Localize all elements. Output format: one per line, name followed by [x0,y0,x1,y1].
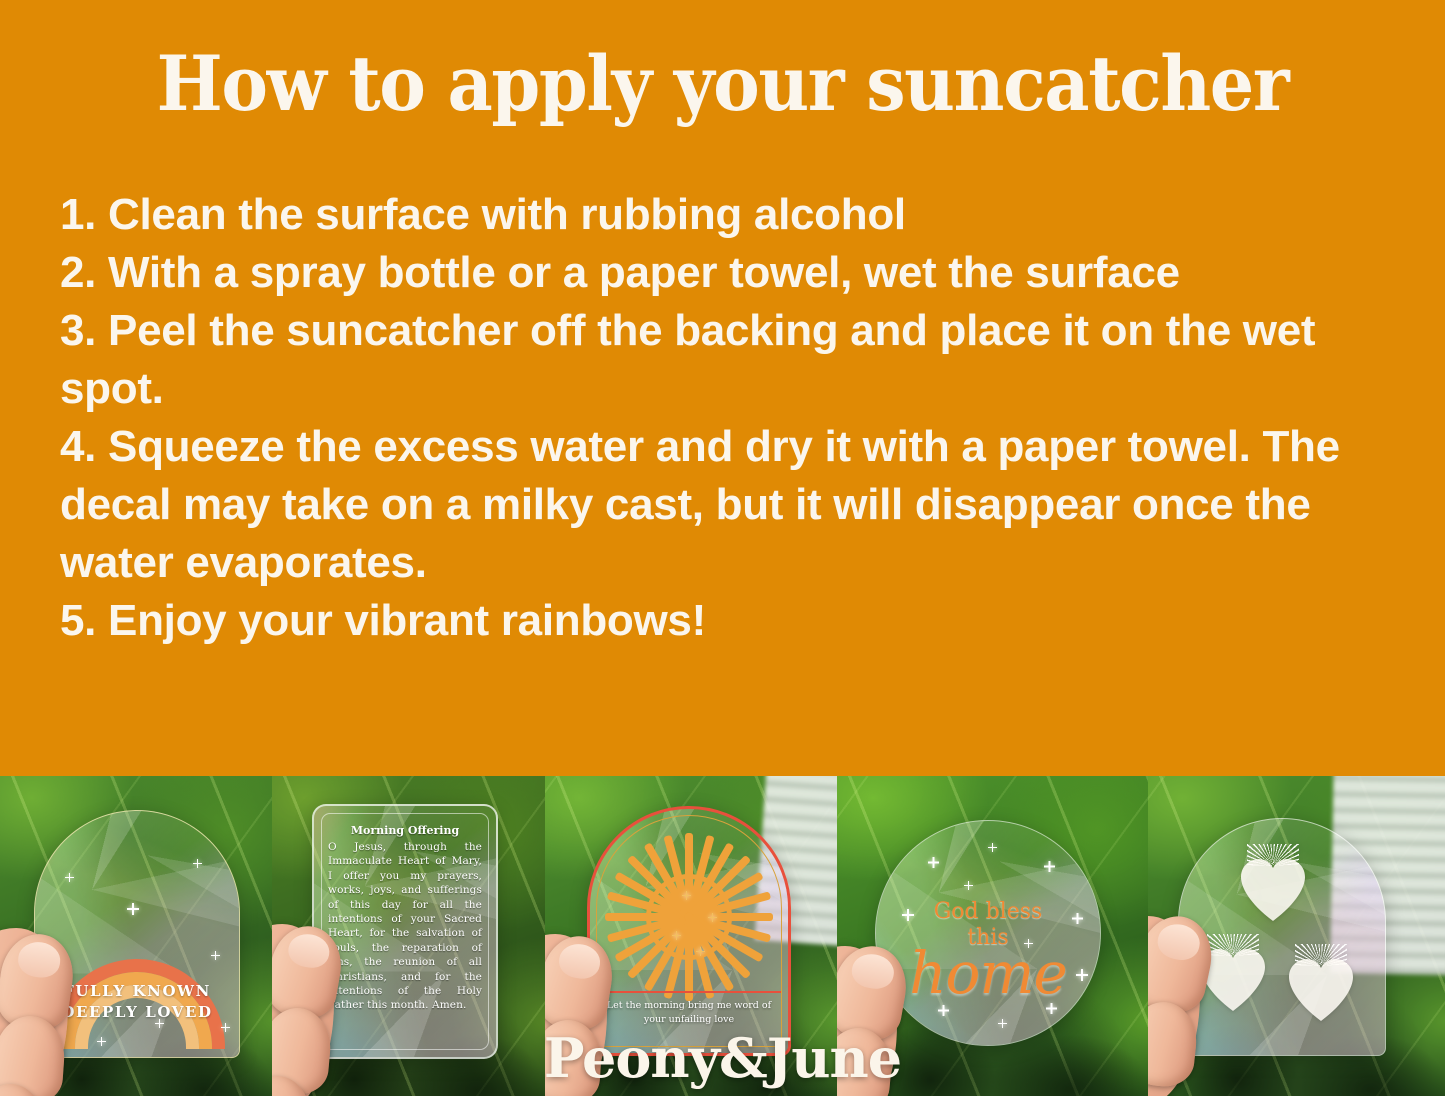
sparkle-icon [682,891,691,900]
sparkle-icon [1024,939,1033,948]
sparkle-icon [211,951,220,960]
sacred-heart-icon-right [1289,959,1353,1021]
prayer-title: Morning Offering [314,824,496,837]
step-item-3: 3. Peel the suncatcher off the backing a… [60,302,1400,418]
rainbow-arch-suncatcher: FULLY KNOWN DEEPLY LOVED [34,810,240,1058]
steps-list: 1. Clean the surface with rubbing alcoho… [60,186,1400,650]
suncatcher-instruction-graphic: How to apply your suncatcher 1. Clean th… [0,0,1445,1096]
sparkle-icon [708,913,717,922]
sacred-heart-icon-left [1201,949,1265,1011]
sparkle-icon [193,859,202,868]
product-photo-strip: FULLY KNOWN DEEPLY LOVED [0,776,1445,1096]
sparkle-icon [127,903,139,915]
step-item-1: 1. Clean the surface with rubbing alcoho… [60,186,1400,244]
sparkle-icon [672,931,681,940]
heart-shape [1241,859,1305,921]
sparkle-icon [1044,861,1055,872]
sparkle-icon [1072,913,1083,924]
step-item-4: 4. Squeeze the excess water and dry it w… [60,418,1400,592]
heart-shape [1289,959,1353,1021]
sunburst-suncatcher-text: Let the morning bring me word of your un… [602,999,776,1027]
sparkle-icon [890,963,899,972]
sparkle-icon [1076,969,1088,981]
sparkle-icon [902,909,914,921]
step-item-2: 2. With a spray bottle or a paper towel,… [60,244,1400,302]
brand-watermark: Peony&June [0,1026,1445,1090]
instructions-panel: How to apply your suncatcher 1. Clean th… [0,0,1445,776]
sparkle-icon [1046,1003,1057,1014]
sparkle-icon [928,857,939,868]
sparkle-icon [988,843,997,852]
sparkle-icon [938,1005,949,1016]
heart-shape [1201,949,1265,1011]
morning-offering-prayer-suncatcher: Morning Offering O Jesus, through the Im… [312,804,498,1059]
prayer-body-text: O Jesus, through the Immaculate Heart of… [328,840,482,1013]
step-item-5: 5. Enjoy your vibrant rainbows! [60,592,1400,650]
god-bless-this-home-suncatcher: God bless this home [875,820,1101,1046]
rainbow-suncatcher-text: FULLY KNOWN DEEPLY LOVED [35,981,239,1023]
sacred-hearts-suncatcher [1178,818,1386,1056]
page-title: How to apply your suncatcher [58,44,1387,124]
sparkle-layer [876,821,1100,1045]
sparkle-icon [65,873,74,882]
sacred-heart-icon-top [1241,859,1305,921]
sunburst-divider [597,991,781,993]
sparkle-icon [964,881,973,890]
sparkle-icon [696,947,705,956]
sunburst-arch-suncatcher: Let the morning bring me word of your un… [587,806,791,1056]
